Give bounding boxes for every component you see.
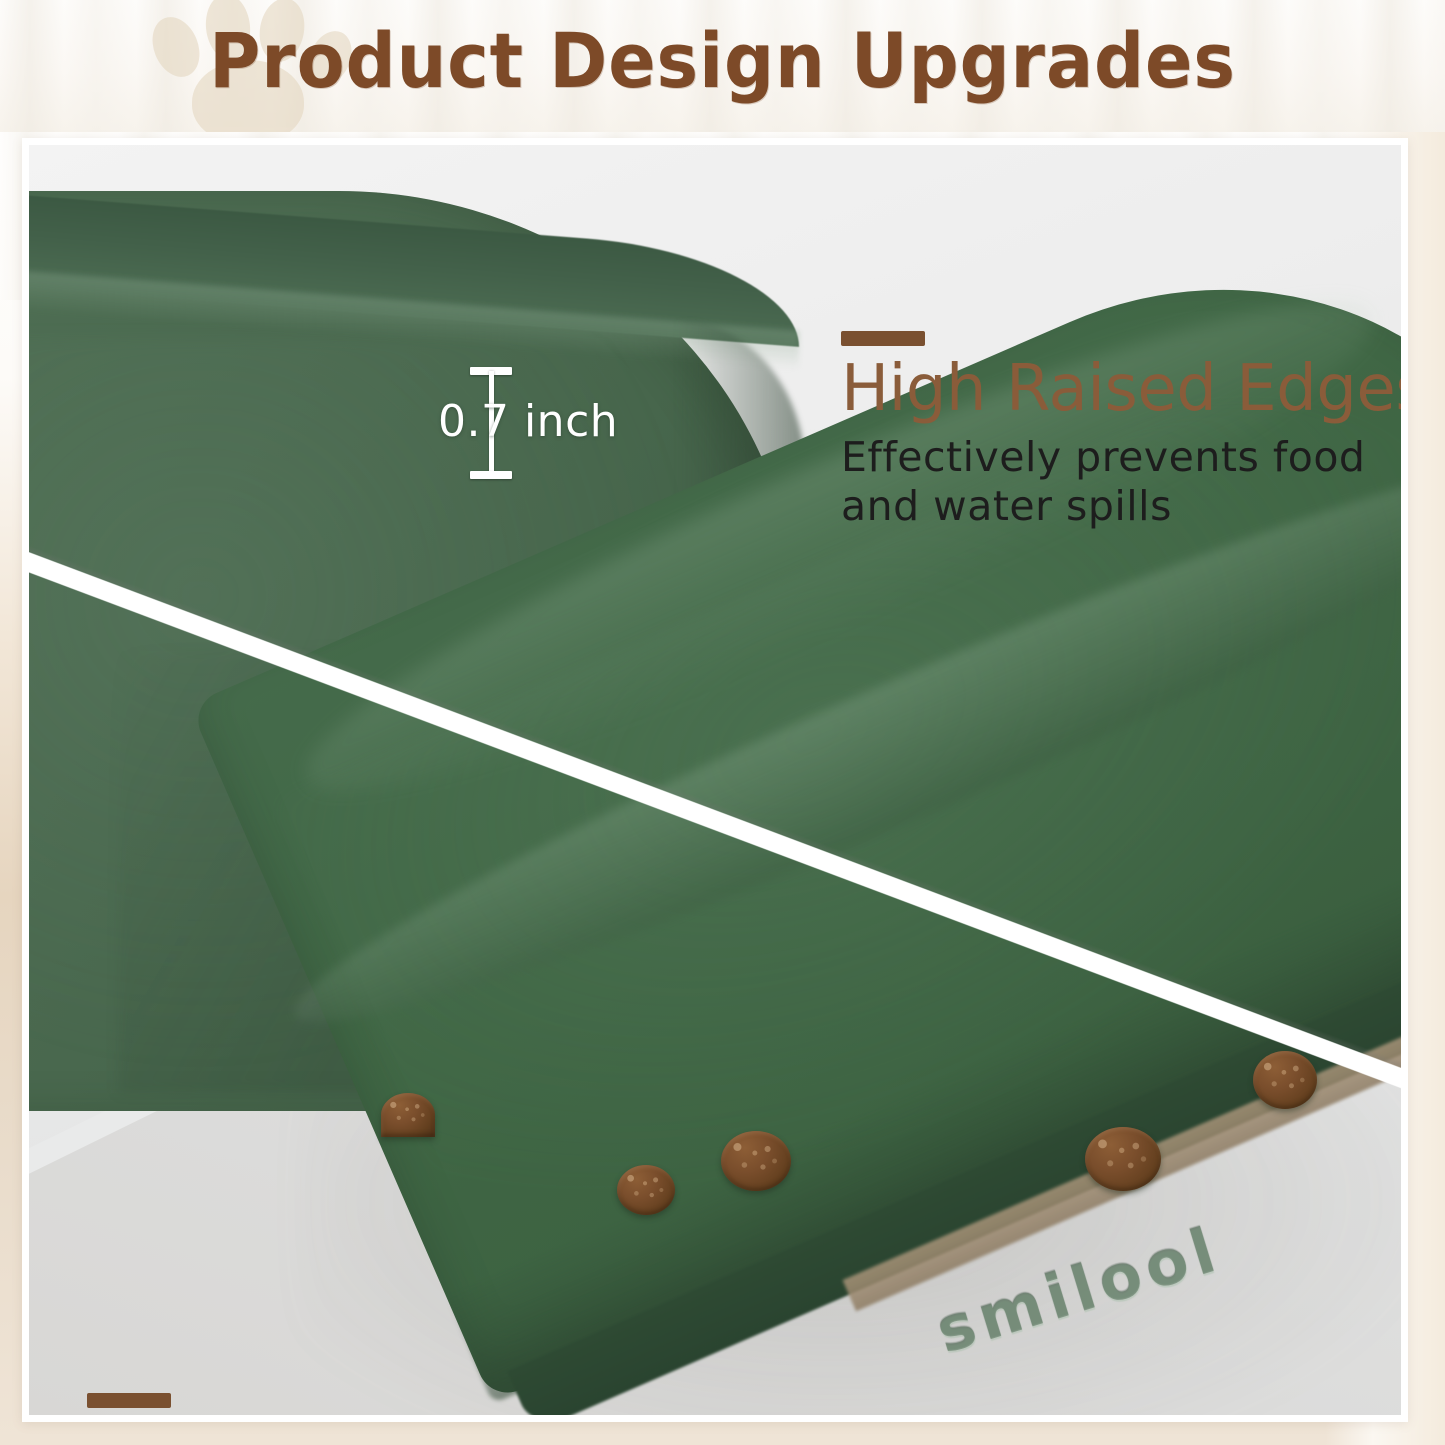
kibble-piece (1253, 1051, 1317, 1109)
callout-keeping-floor-clean: Keeping the floor clean Minimizes time s… (87, 1393, 1136, 1415)
kibble-piece (721, 1131, 791, 1191)
callout-body: Effectively prevents food and water spil… (841, 433, 1401, 531)
dimension-label: 0.7 inch (438, 396, 618, 447)
product-infographic: Product Design Upgrades (0, 0, 1445, 1445)
header-band: Product Design Upgrades (0, 0, 1445, 132)
page-title: Product Design Upgrades (58, 16, 1387, 105)
callout-accent-dash (841, 331, 925, 346)
callout-high-raised-edges: High Raised Edges Effectively prevents f… (841, 331, 1401, 532)
callout-accent-dash (87, 1393, 171, 1408)
callout-heading: High Raised Edges (841, 356, 1401, 423)
kibble-piece (1085, 1127, 1161, 1191)
product-photo-panel: smilool 0.7 inch High Raised Edges Effec… (22, 138, 1408, 1422)
kibble-piece (617, 1165, 675, 1215)
kibble-piece (381, 1093, 435, 1137)
photo-inner: smilool 0.7 inch High Raised Edges Effec… (29, 145, 1401, 1415)
